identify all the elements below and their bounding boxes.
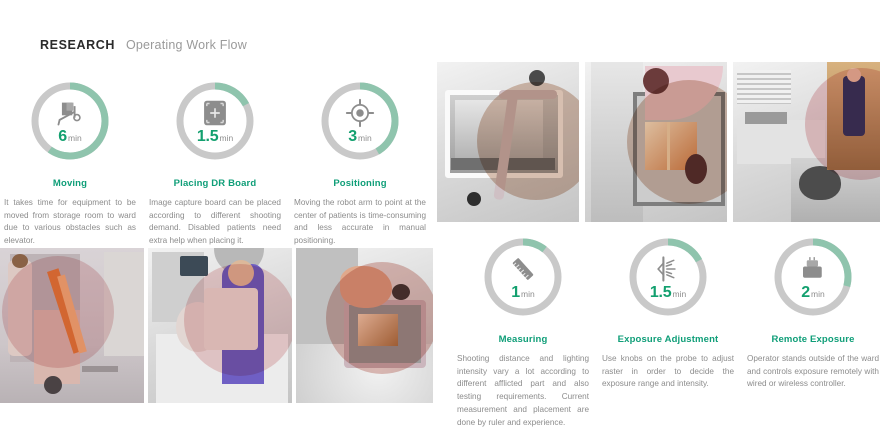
donut-center-moving: 6min — [27, 78, 113, 164]
ruler-icon — [508, 256, 538, 282]
donut-value-exposure-adjustment: 1.5min — [650, 285, 686, 301]
donut-chart-positioning: 3min — [317, 78, 403, 164]
donut-value-positioning: 3min — [348, 129, 371, 145]
photo-operator-doorway — [733, 62, 880, 222]
step-title-positioning: Positioning — [290, 178, 430, 189]
step-description-placing-dr-board: Image capture board can be placed accord… — [145, 197, 285, 248]
step-description-positioning: Moving the robot arm to point at the cen… — [290, 197, 430, 248]
step-card-measuring: 1min Measuring Shooting distance and lig… — [453, 234, 593, 429]
step-card-moving: 6min Moving It takes time for equipment … — [0, 78, 140, 248]
donut-chart-remote-exposure: 2min — [770, 234, 856, 320]
step-description-exposure-adjustment: Use knobs on the probe to adjust raster … — [598, 353, 738, 391]
donut-chart-moving: 6min — [27, 78, 113, 164]
step-title-remote-exposure: Remote Exposure — [743, 334, 880, 345]
donut-center-remote-exposure: 2min — [770, 234, 856, 320]
page-subtitle: Operating Work Flow — [126, 38, 247, 52]
step-description-moving: It takes time for equipment to be moved … — [0, 197, 140, 248]
page-header: RESEARCH Operating Work Flow — [40, 38, 247, 52]
donut-value-moving: 6min — [58, 129, 81, 145]
donut-chart-placing-dr-board: 1.5min — [172, 78, 258, 164]
donut-center-positioning: 3min — [317, 78, 403, 164]
step-card-placing-dr-board: 1.5min Placing DR Board Image capture bo… — [145, 78, 285, 248]
photo-detector-placement — [296, 248, 433, 403]
step-description-remote-exposure: Operator stands outside of the ward and … — [743, 353, 880, 391]
step-title-placing-dr-board: Placing DR Board — [145, 178, 285, 189]
photo-nurse-with-patient — [148, 248, 292, 403]
step-card-positioning: 3min Positioning Moving the robot arm to… — [290, 78, 430, 248]
step-card-remote-exposure: 2min Remote Exposure Operator stands out… — [743, 234, 880, 391]
donut-center-exposure-adjustment: 1.5min — [625, 234, 711, 320]
dr-board-icon — [200, 100, 230, 126]
exposure-lamp-icon — [653, 256, 683, 282]
donut-center-measuring: 1min — [480, 234, 566, 320]
donut-chart-exposure-adjustment: 1.5min — [625, 234, 711, 320]
hand-truck-icon — [55, 100, 85, 126]
remote-controller-icon — [798, 256, 828, 282]
crosshair-target-icon — [345, 100, 375, 126]
photo-dr-board-frame — [437, 62, 579, 222]
photo-hand-on-detector — [585, 62, 727, 222]
step-title-measuring: Measuring — [453, 334, 593, 345]
step-title-moving: Moving — [0, 178, 140, 189]
donut-center-placing-dr-board: 1.5min — [172, 78, 258, 164]
donut-value-placing-dr-board: 1.5min — [197, 129, 233, 145]
step-description-measuring: Shooting distance and lighting intensity… — [453, 353, 593, 429]
photo-nurse-pushing-cart — [0, 248, 144, 403]
step-title-exposure-adjustment: Exposure Adjustment — [598, 334, 738, 345]
page-title: RESEARCH — [40, 38, 115, 52]
step-card-exposure-adjustment: 1.5min Exposure Adjustment Use knobs on … — [598, 234, 738, 391]
donut-value-measuring: 1min — [511, 285, 534, 301]
donut-value-remote-exposure: 2min — [801, 285, 824, 301]
donut-chart-measuring: 1min — [480, 234, 566, 320]
